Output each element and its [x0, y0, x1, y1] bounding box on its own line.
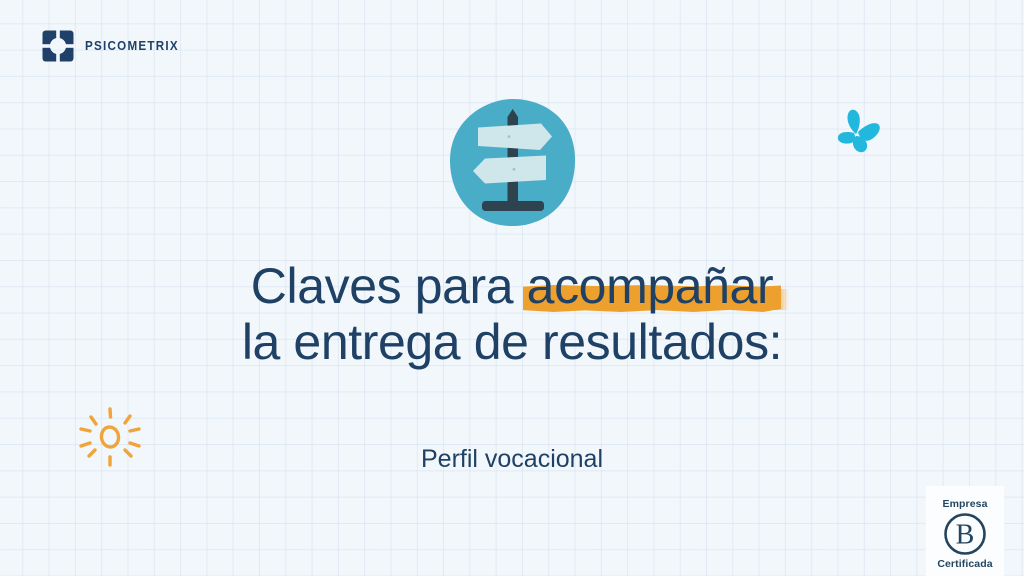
- signpost-icon: [446, 95, 580, 229]
- bcorp-certification-badge: Empresa B Certificada: [926, 486, 1004, 576]
- bcorp-b-icon: B: [942, 511, 988, 557]
- headline-line-2: la entrega de resultados:: [0, 314, 1024, 370]
- bcorp-bottom-label: Certificada: [937, 558, 992, 570]
- headline-highlighted-word: acompañar: [527, 258, 774, 314]
- bcorp-top-label: Empresa: [942, 498, 987, 510]
- page-title: Claves para acompañar la entrega de resu…: [0, 258, 1024, 370]
- butterfly-icon: [829, 103, 887, 161]
- headline-line-1-prefix: Claves para: [251, 258, 527, 314]
- page-subtitle: Perfil vocacional: [0, 443, 1024, 475]
- psicometrix-logo-icon: [42, 30, 74, 62]
- brand-logo-text: PSICOMETRIX: [85, 39, 179, 53]
- slide-canvas: PSICOMETRIX: [0, 0, 1024, 576]
- headline-highlight-text: acompañar: [527, 258, 774, 314]
- brand-logo[interactable]: PSICOMETRIX: [42, 30, 186, 62]
- bcorp-letter: B: [956, 520, 975, 551]
- headline-line-1: Claves para acompañar: [0, 258, 1024, 314]
- highlight-brush-tail: [773, 289, 789, 310]
